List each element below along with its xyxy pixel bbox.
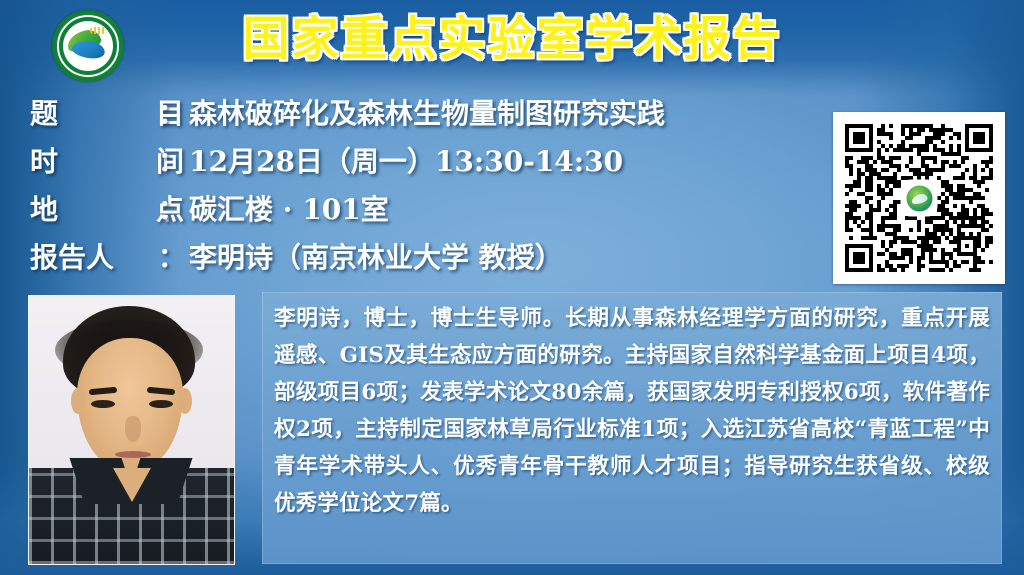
info-label-speaker: 报告人	[30, 236, 158, 276]
info-label-topic: 题 目	[30, 92, 158, 132]
speaker-bio-text: 李明诗，博士，博士生导师。长期从事森林经理学方面的研究，重点开展遥感、GIS及其…	[274, 300, 990, 522]
info-colon-location: ：	[158, 188, 185, 227]
qr-code-panel[interactable]	[833, 112, 1005, 284]
page-title: 国家重点实验室学术报告	[0, 8, 1024, 71]
info-value-time: 12月28日（周一）13:30-14:30	[189, 140, 623, 180]
speaker-bio-name: 李明诗	[274, 306, 341, 331]
info-colon-time: ：	[158, 140, 185, 179]
info-colon-speaker: ：	[158, 236, 185, 275]
speaker-bio-body: ，博士，博士生导师。长期从事森林经理学方面的研究，重点开展遥感、GIS及其生态应…	[274, 306, 990, 516]
info-colon-topic: ：	[158, 92, 185, 131]
seminar-poster: 国家重点实验室学术报告 题 目 ： 森林破碎化及森林生物量制图研究实践 时 间 …	[0, 0, 1024, 575]
info-label-location: 地 点	[30, 188, 158, 228]
speaker-photo	[28, 295, 235, 565]
info-value-topic: 森林破碎化及森林生物量制图研究实践	[189, 92, 665, 132]
qr-center-logo-icon	[903, 182, 936, 215]
info-value-location: 碳汇楼 · 101室	[189, 188, 389, 228]
event-info-block: 题 目 ： 森林破碎化及森林生物量制图研究实践 时 间 ： 12月28日（周一）…	[30, 92, 830, 284]
poster-header: 国家重点实验室学术报告	[0, 0, 1024, 92]
speaker-bio-panel: 李明诗，博士，博士生导师。长期从事森林经理学方面的研究，重点开展遥感、GIS及其…	[262, 292, 1002, 564]
info-label-time: 时 间	[30, 140, 158, 180]
info-value-speaker-affiliation: （南京林业大学 教授）	[273, 236, 563, 276]
info-row-time: 时 间 ： 12月28日（周一）13:30-14:30	[30, 140, 830, 188]
info-value-speaker: 李明诗	[189, 236, 273, 276]
info-row-location: 地 点 ： 碳汇楼 · 101室	[30, 188, 830, 236]
info-row-speaker: 报告人 ： 李明诗 （南京林业大学 教授）	[30, 236, 830, 284]
info-row-topic: 题 目 ： 森林破碎化及森林生物量制图研究实践	[30, 92, 830, 140]
